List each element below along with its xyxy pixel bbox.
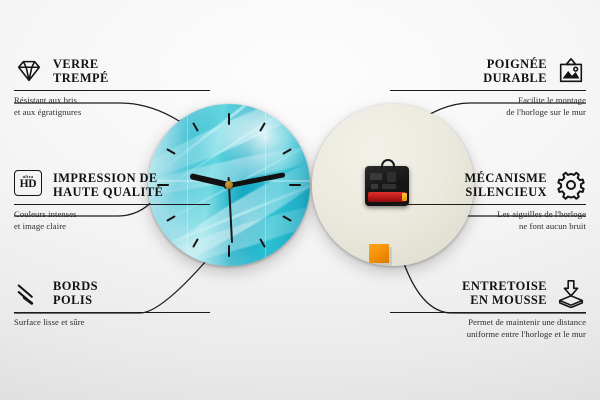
gear-icon <box>556 170 586 200</box>
feature-description: Résistant aux briset aux égratignures <box>14 95 210 118</box>
divider <box>390 204 586 205</box>
divider <box>390 90 586 91</box>
feature-header: POIGNÉEDURABLE <box>390 56 586 86</box>
feature-bords-polis: BORDSPOLIS Surface lisse et sûre <box>14 278 210 329</box>
mechanism-hanger <box>381 159 395 169</box>
feature-title: VERRETREMPÉ <box>53 57 109 86</box>
feature-title: MÉCANISMESILENCIEUX <box>464 171 547 200</box>
divider <box>14 90 210 91</box>
feature-header: VERRETREMPÉ <box>14 56 210 86</box>
feature-mecanisme-silencieux: MÉCANISMESILENCIEUX Les aiguilles de l'h… <box>390 170 586 232</box>
divider <box>14 204 210 205</box>
feature-header: ultra HD IMPRESSION DEHAUTE QUALITÉ <box>14 170 210 200</box>
feature-description: Couleurs intenseset image claire <box>14 209 210 232</box>
feature-description: Surface lisse et sûre <box>14 317 210 329</box>
feature-title: BORDSPOLIS <box>53 279 98 308</box>
feature-verre-trempe: VERRETREMPÉ Résistant aux briset aux égr… <box>14 56 210 118</box>
infographic-canvas: VERRETREMPÉ Résistant aux briset aux égr… <box>0 0 600 400</box>
feature-header: ENTRETOISEEN MOUSSE <box>390 278 586 308</box>
diamond-icon <box>14 56 44 86</box>
hanging-frame-icon <box>556 56 586 86</box>
clock-center-cap <box>225 181 233 189</box>
foam-spacer-icon <box>556 278 586 308</box>
ultra-hd-icon: ultra HD <box>14 170 44 200</box>
polished-edges-icon <box>14 278 44 308</box>
foam-spacer <box>369 244 389 263</box>
feature-header: BORDSPOLIS <box>14 278 210 308</box>
feature-poignee-durable: POIGNÉEDURABLE Facilite le montagede l'h… <box>390 56 586 118</box>
feature-entretoise-en-mousse: ENTRETOISEEN MOUSSE Permet de maintenir … <box>390 278 586 340</box>
feature-impression-haute-qualite: ultra HD IMPRESSION DEHAUTE QUALITÉ Coul… <box>14 170 210 232</box>
feature-title: IMPRESSION DEHAUTE QUALITÉ <box>53 171 163 200</box>
feature-title: ENTRETOISEEN MOUSSE <box>462 279 547 308</box>
feature-title: POIGNÉEDURABLE <box>483 57 547 86</box>
hd-label: HD <box>20 179 37 191</box>
divider <box>14 312 210 313</box>
feature-description: Permet de maintenir une distanceuniforme… <box>390 317 586 340</box>
feature-description: Les aiguilles de l'horlogene font aucun … <box>390 209 586 232</box>
feature-description: Facilite le montagede l'horloge sur le m… <box>390 95 586 118</box>
divider <box>390 312 586 313</box>
feature-header: MÉCANISMESILENCIEUX <box>390 170 586 200</box>
